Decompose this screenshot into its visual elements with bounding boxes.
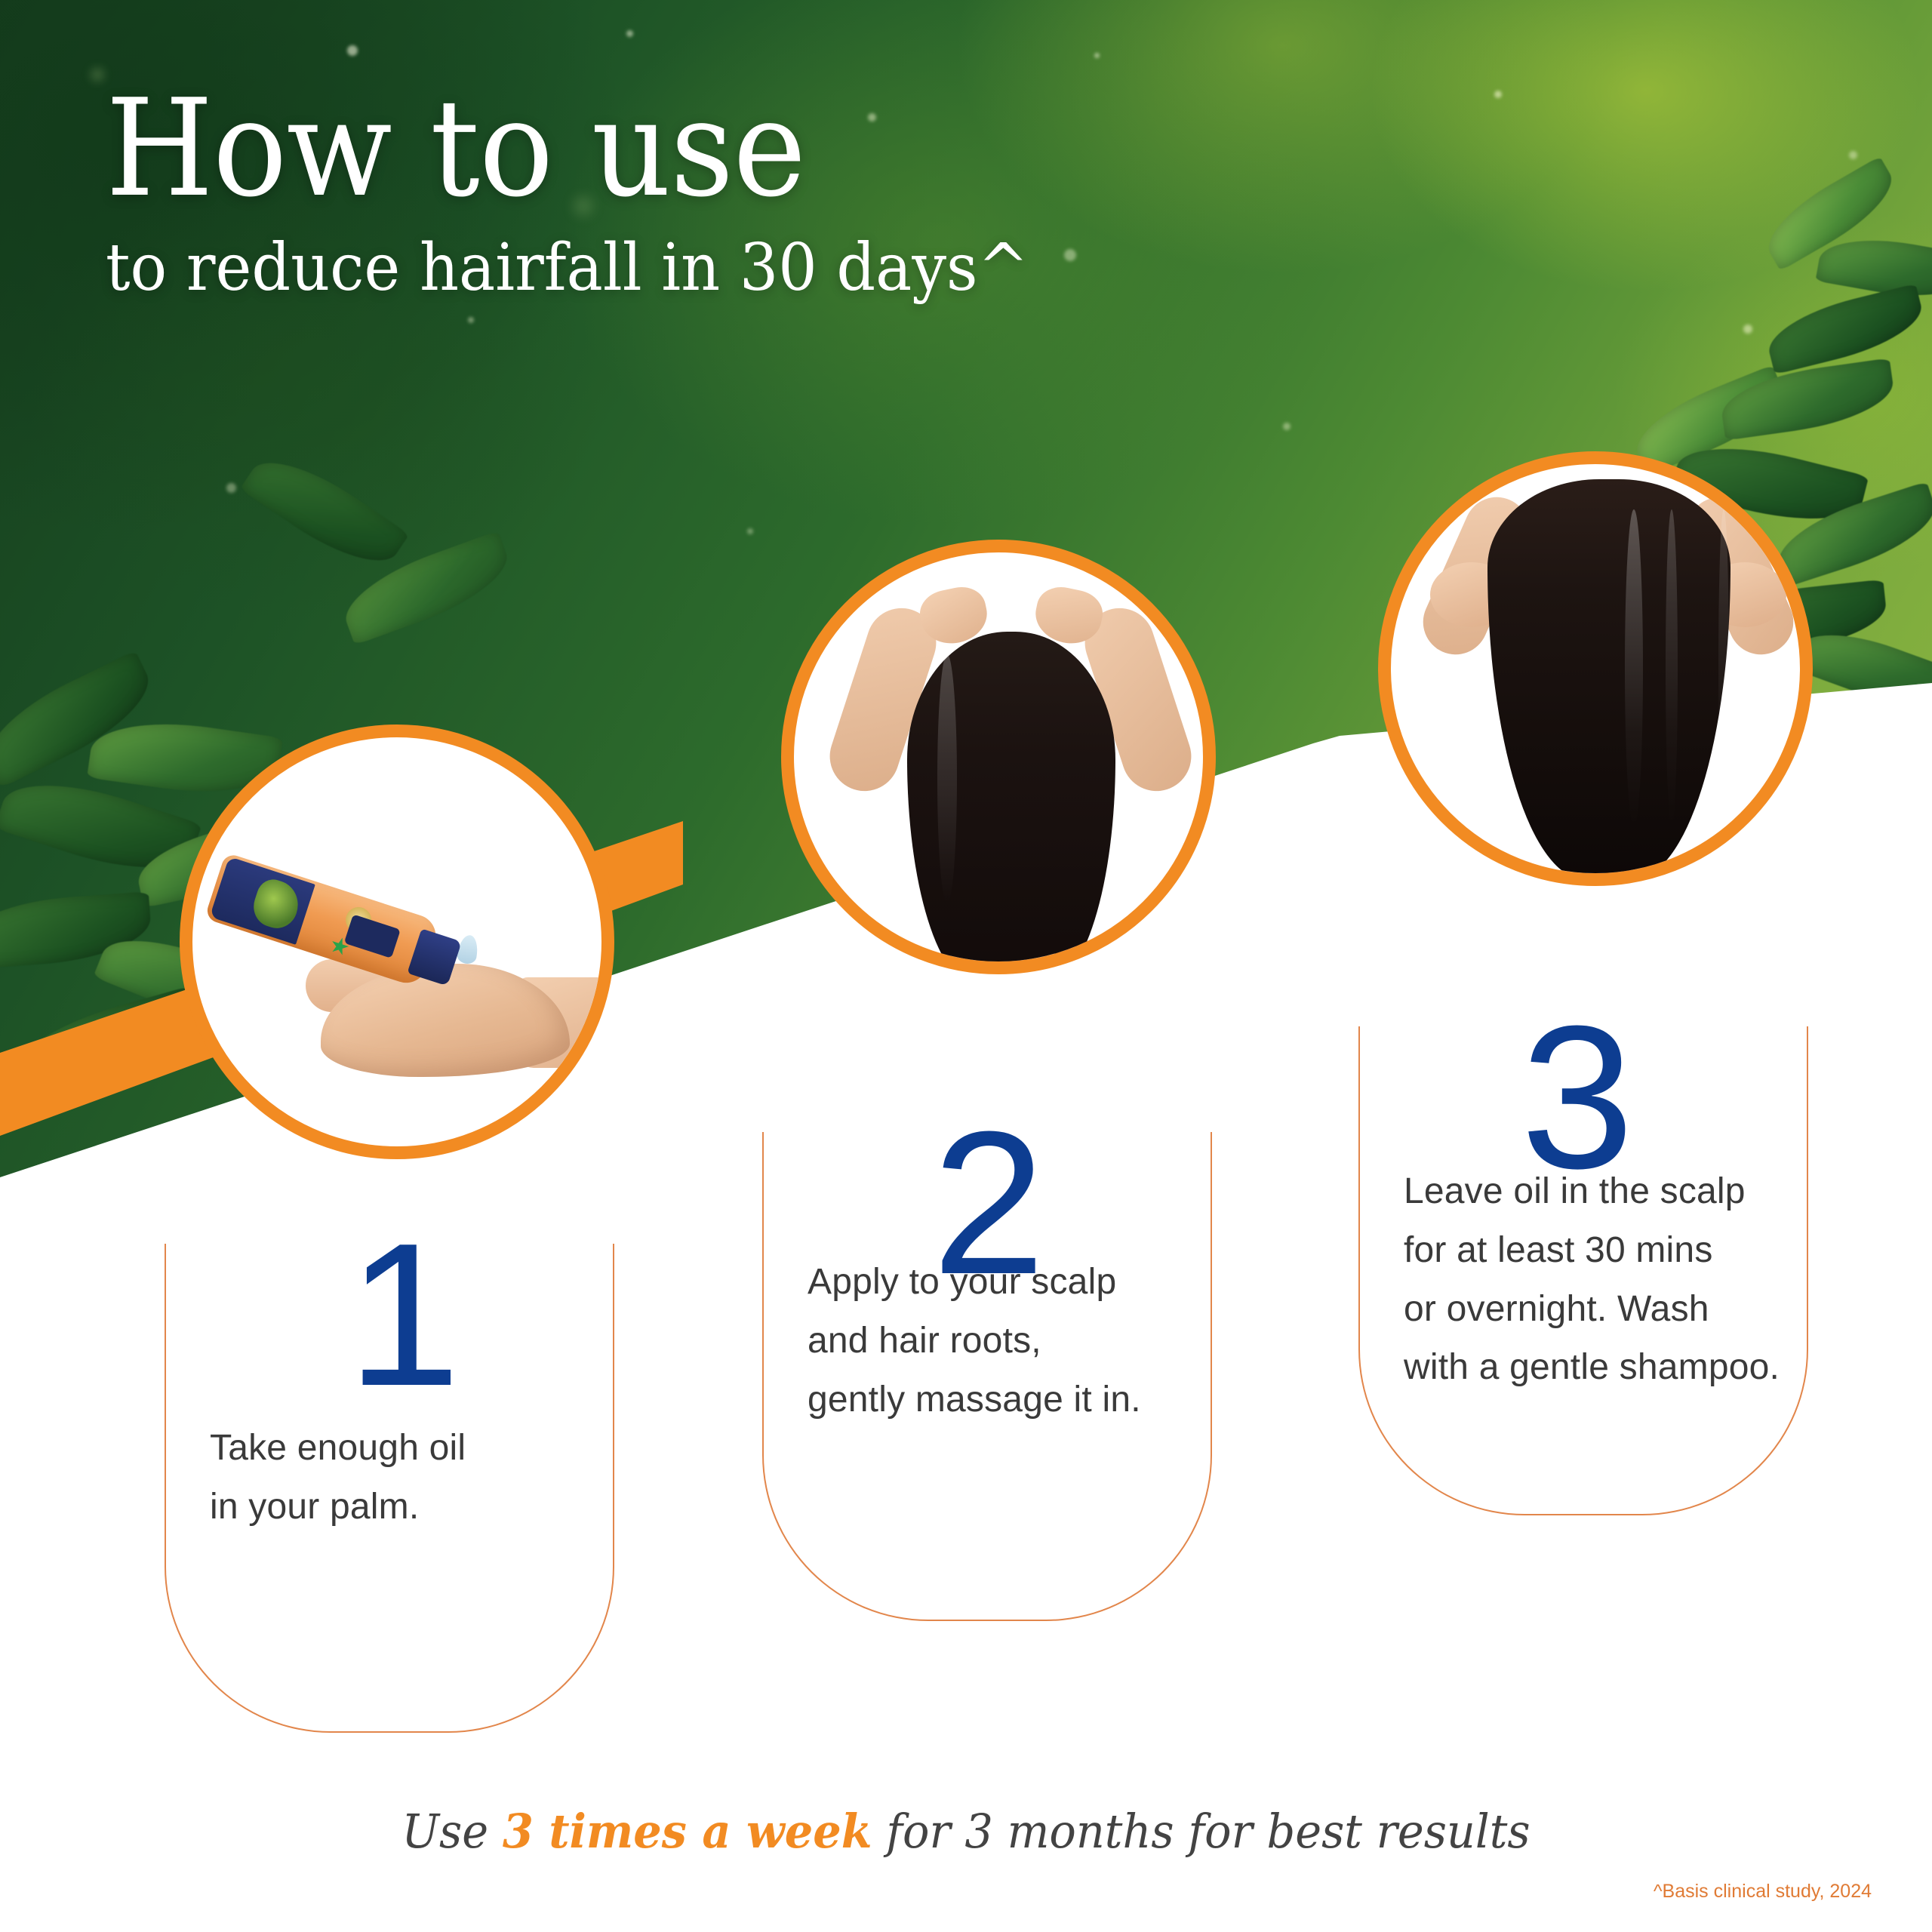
step-text-3: Leave oil in the scalp for at least 30 m… [1404, 1162, 1826, 1397]
step-text-1: Take enough oil in your palm. [210, 1419, 602, 1537]
step-number-1: 1 [347, 1214, 457, 1417]
step-photo-2 [781, 540, 1216, 974]
hair-shine [1625, 509, 1643, 826]
oil-drop-icon [456, 934, 480, 965]
step-text-2: Apply to your scalp and hair roots, gent… [808, 1253, 1215, 1429]
tagline-suffix: for 3 months for best results [872, 1804, 1531, 1859]
hair-shape [907, 632, 1115, 961]
tagline-highlight: 3 times a week [503, 1804, 872, 1859]
usage-tagline: Use 3 times a week for 3 months for best… [48, 1804, 1884, 1859]
star-icon [328, 935, 351, 958]
scalp-massage-illustration [794, 552, 1203, 961]
pour-oil-illustration [192, 737, 601, 1146]
tagline-prefix: Use [401, 1804, 502, 1859]
hair-shine [1666, 509, 1678, 826]
steps-container: 1 2 3 Take enough oil in your palm. Appl… [0, 0, 1932, 1932]
brand-mark [344, 914, 401, 958]
hair-shine [1718, 509, 1729, 826]
step-photo-1 [180, 724, 614, 1159]
footnote-disclaimer: ^Basis clinical study, 2024 [1654, 1881, 1872, 1903]
step-photo-3 [1378, 451, 1813, 886]
hair-shape [1487, 479, 1730, 873]
shiny-hair-illustration [1391, 464, 1800, 873]
